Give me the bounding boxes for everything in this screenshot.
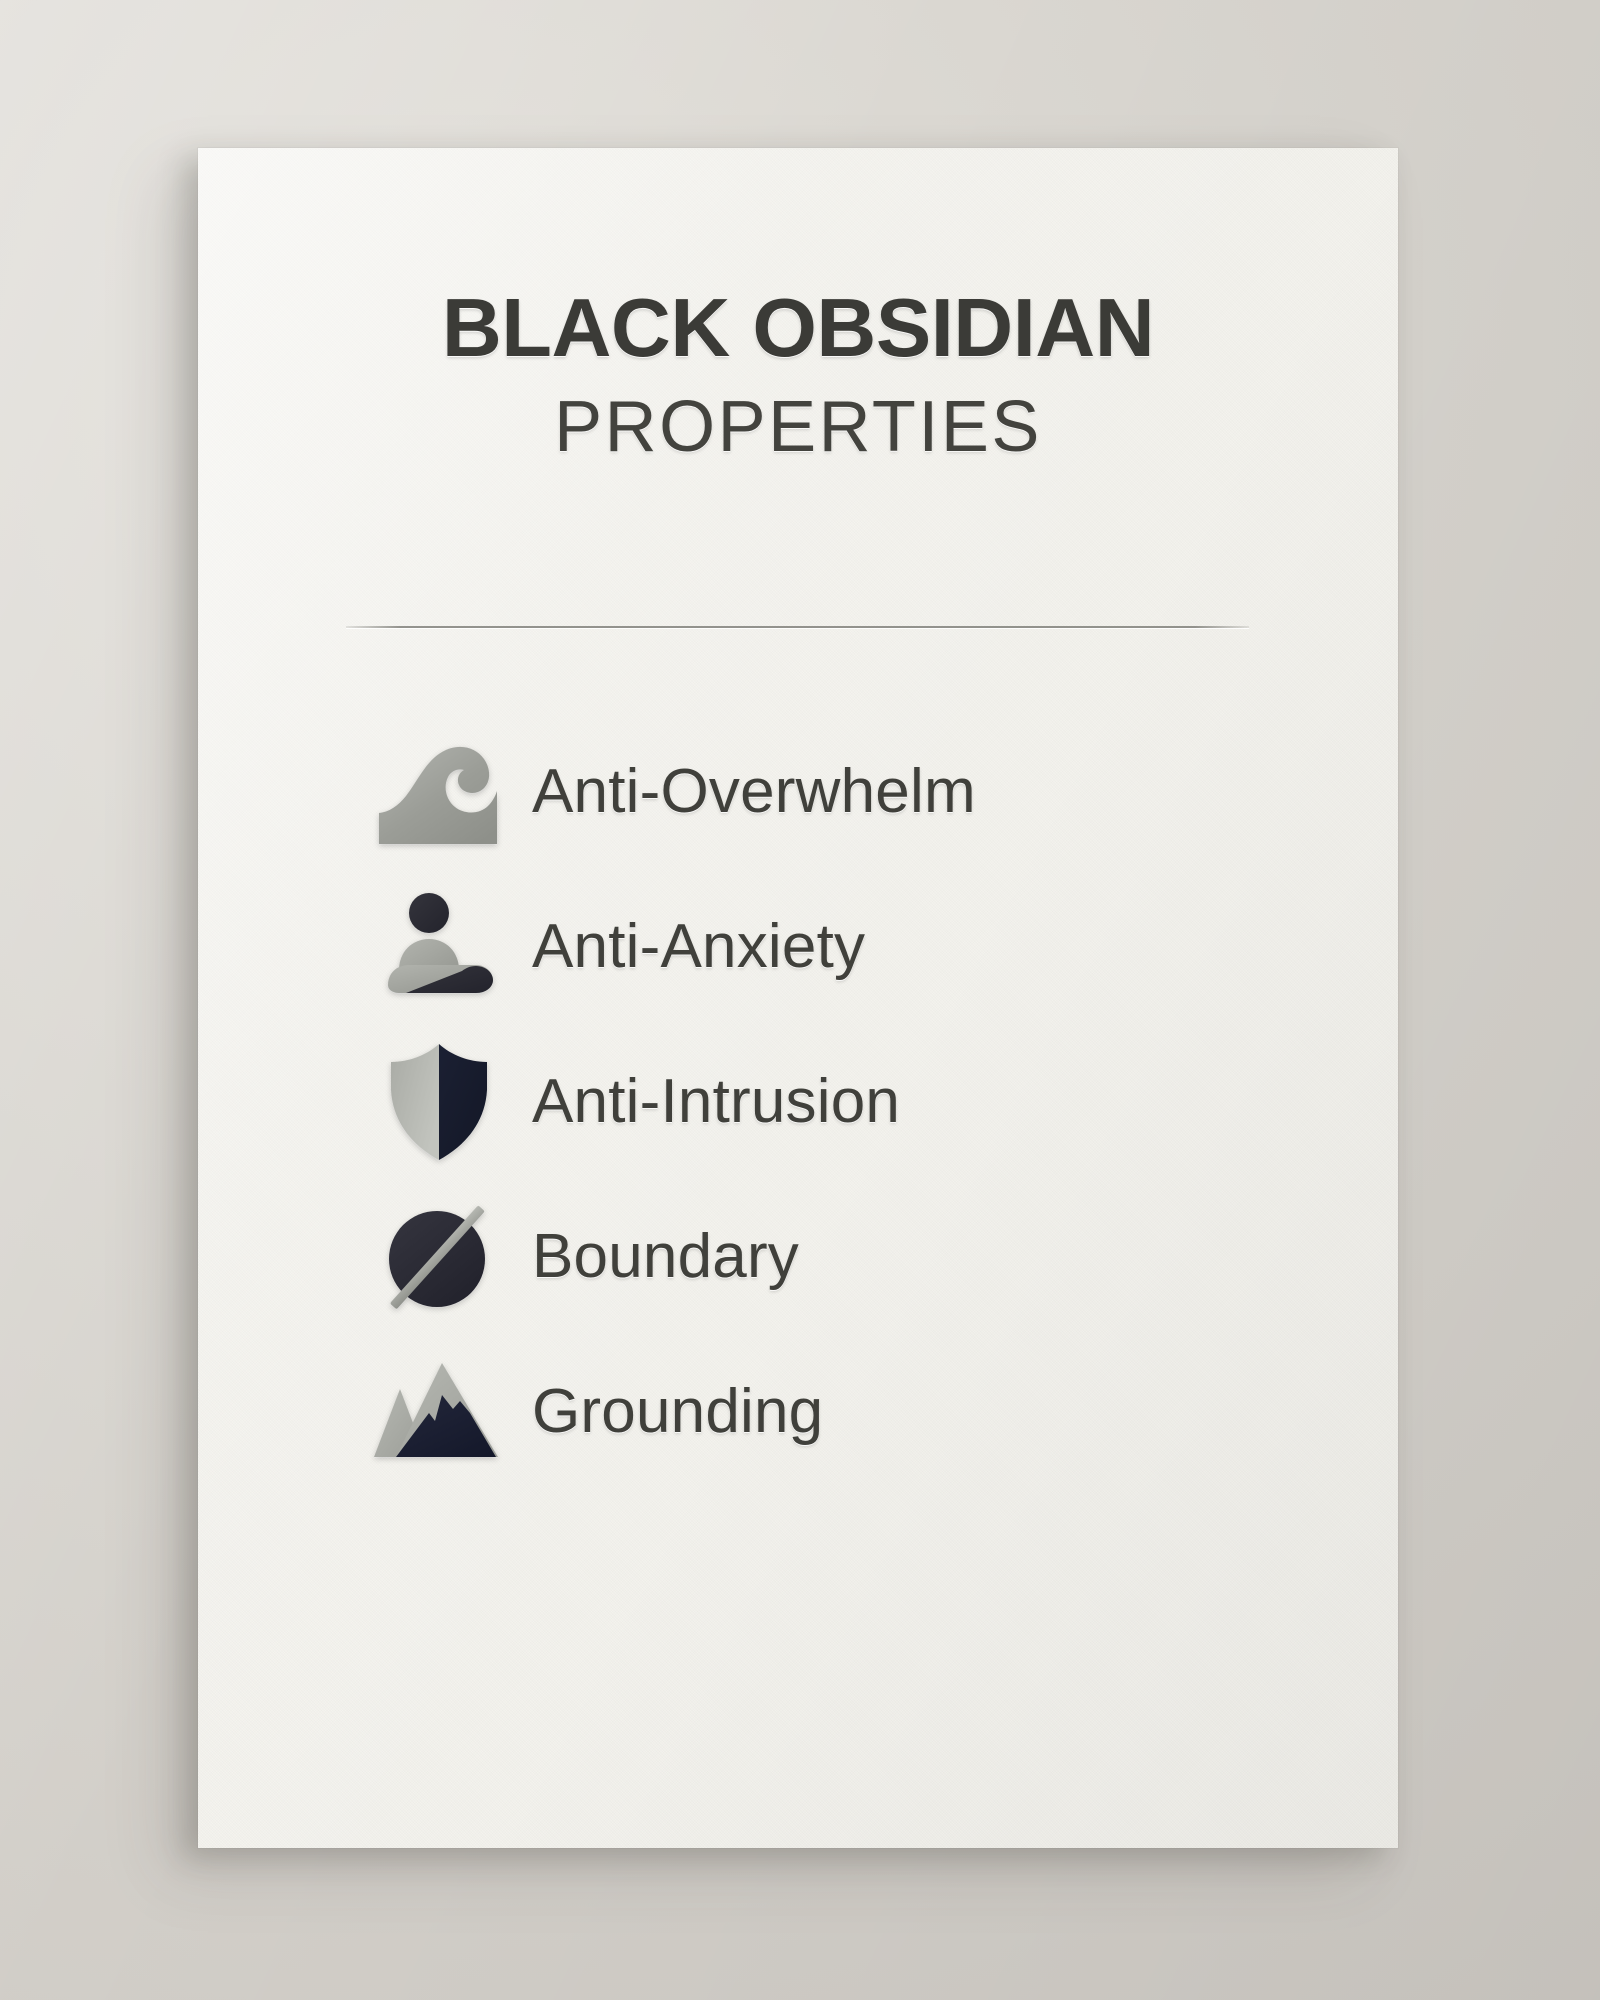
list-item-label: Anti-Anxiety xyxy=(532,916,865,978)
list-item-label: Grounding xyxy=(532,1381,823,1443)
mountain-icon xyxy=(346,1353,532,1471)
shield-icon xyxy=(346,1043,532,1161)
meditating-person-icon xyxy=(346,888,532,1006)
header-divider xyxy=(346,626,1249,628)
list-item: Anti-Overwhelm xyxy=(346,714,1256,869)
list-item: Grounding xyxy=(346,1334,1256,1489)
circle-slash-icon xyxy=(346,1198,532,1316)
list-item: Anti-Anxiety xyxy=(346,869,1256,1024)
list-item-label: Anti-Overwhelm xyxy=(532,761,976,823)
properties-list: Anti-Overwhelm xyxy=(346,714,1256,1489)
page-subtitle: PROPERTIES xyxy=(198,391,1398,463)
wave-icon xyxy=(346,733,532,851)
list-item: Boundary xyxy=(346,1179,1256,1334)
list-item-label: Anti-Intrusion xyxy=(532,1071,900,1133)
poster-card: BLACK OBSIDIAN PROPERTIES xyxy=(198,148,1398,1848)
title-block: BLACK OBSIDIAN PROPERTIES xyxy=(198,286,1398,463)
list-item: Anti-Intrusion xyxy=(346,1024,1256,1179)
page-title: BLACK OBSIDIAN xyxy=(198,286,1398,369)
list-item-label: Boundary xyxy=(532,1226,799,1288)
